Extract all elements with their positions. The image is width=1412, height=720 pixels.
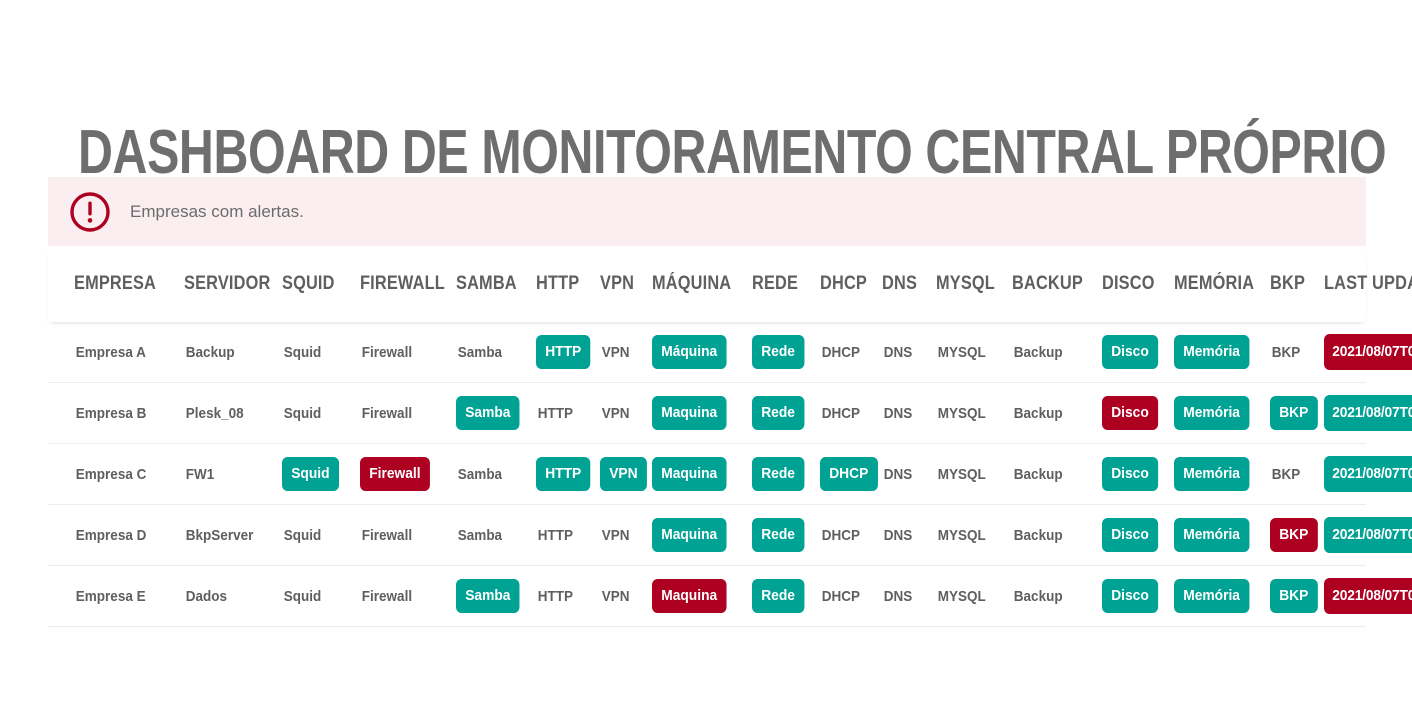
status-badge[interactable]: DHCP (820, 457, 878, 491)
table-row[interactable]: Empresa EDadosSquidFirewallSambaHTTPVPNM… (48, 566, 1366, 627)
status-badge[interactable]: Disco (1102, 396, 1158, 430)
column-header[interactable]: DHCP (820, 273, 873, 295)
status-badge[interactable]: Memória (1174, 396, 1249, 430)
table-cell: HTTP (536, 457, 600, 491)
cell-value: HTTP (536, 405, 575, 422)
cell-value: DNS (882, 527, 914, 544)
table-cell: HTTP (536, 335, 600, 369)
table-cell: Rede (752, 396, 820, 430)
table-cell: MYSQL (936, 588, 1012, 605)
table-cell: Firewall (360, 457, 456, 491)
alert-banner: Empresas com alertas. (48, 177, 1366, 246)
table-cell: DHCP (820, 588, 882, 605)
table-cell: Squid (282, 405, 360, 422)
table-cell: BKP (1270, 579, 1324, 613)
table-cell: Disco (1102, 457, 1174, 491)
cell-value: Squid (282, 527, 323, 544)
status-badge[interactable]: Samba (456, 579, 520, 613)
column-header[interactable]: FIREWALL (360, 273, 443, 295)
table-cell: BkpServer (184, 527, 282, 544)
column-header[interactable]: REDE (752, 273, 810, 295)
table-cell: VPN (600, 527, 652, 544)
table-cell: Empresa D (74, 527, 184, 544)
cell-value: DNS (882, 588, 914, 605)
status-badge[interactable]: Memória (1174, 335, 1249, 369)
status-badge[interactable]: Samba (456, 396, 520, 430)
table-cell: Dados (184, 588, 282, 605)
column-header[interactable]: BACKUP (1012, 273, 1089, 295)
table-cell: Backup (1012, 405, 1102, 422)
table-cell: BKP (1270, 466, 1324, 483)
status-badge[interactable]: Disco (1102, 518, 1158, 552)
status-badge[interactable]: Squid (282, 457, 339, 491)
table-cell: Memória (1174, 457, 1270, 491)
cell-value: DNS (882, 405, 914, 422)
status-badge[interactable]: Maquina (652, 579, 726, 613)
cell-value: MYSQL (936, 405, 988, 422)
cell-value: Empresa A (74, 344, 148, 361)
status-badge[interactable]: Disco (1102, 335, 1158, 369)
table-cell: BKP (1270, 344, 1324, 361)
cell-value: Samba (456, 466, 504, 483)
table-cell: MYSQL (936, 466, 1012, 483)
status-badge[interactable]: 2021/08/07T02:20:02 (1324, 578, 1412, 614)
table-cell: HTTP (536, 527, 600, 544)
table-cell: DHCP (820, 457, 882, 491)
cell-value: Firewall (360, 527, 414, 544)
table-cell: Empresa A (74, 344, 184, 361)
status-badge[interactable]: Disco (1102, 579, 1158, 613)
cell-value: VPN (600, 344, 631, 361)
table-cell: Firewall (360, 344, 456, 361)
table-cell: Memória (1174, 579, 1270, 613)
table-cell: DNS (882, 405, 936, 422)
cell-value: Backup (1012, 588, 1064, 605)
cell-value: Backup (1012, 466, 1064, 483)
cell-value: DHCP (820, 344, 862, 361)
table-cell: VPN (600, 344, 652, 361)
table-cell: Maquina (652, 518, 752, 552)
table-cell: Samba (456, 579, 536, 613)
table-header-row: EMPRESASERVIDORSQUIDFIREWALLSAMBAHTTPVPN… (48, 246, 1366, 322)
table-cell: Rede (752, 457, 820, 491)
table-cell: Rede (752, 335, 820, 369)
cell-value: Backup (1012, 405, 1064, 422)
cell-value: HTTP (536, 588, 575, 605)
table-cell: Rede (752, 518, 820, 552)
cell-value: DHCP (820, 588, 862, 605)
column-header[interactable]: MEMÓRIA (1174, 273, 1257, 295)
table-cell: Memória (1174, 396, 1270, 430)
cell-value: MYSQL (936, 344, 988, 361)
cell-value: Empresa E (74, 588, 147, 605)
status-badge[interactable]: Rede (752, 396, 804, 430)
column-header[interactable]: HTTP (536, 273, 591, 295)
cell-value: HTTP (536, 527, 575, 544)
column-header[interactable]: EMPRESA (74, 273, 169, 295)
table-cell: 2021/08/07T02:20:02 (1324, 334, 1412, 370)
cell-value: VPN (600, 588, 631, 605)
status-badge[interactable]: 2021/08/07T02:20:02 (1324, 517, 1412, 553)
table-cell: Firewall (360, 588, 456, 605)
column-header[interactable]: MÁQUINA (652, 273, 738, 295)
cell-value: BKP (1270, 466, 1302, 483)
cell-value: Firewall (360, 405, 414, 422)
status-badge[interactable]: Memória (1174, 579, 1249, 613)
cell-value: DHCP (820, 527, 862, 544)
table-cell: DHCP (820, 527, 882, 544)
table-cell: Samba (456, 527, 536, 544)
table-cell: DNS (882, 588, 936, 605)
table-cell: Memória (1174, 335, 1270, 369)
table-row[interactable]: Empresa ABackupSquidFirewallSambaHTTPVPN… (48, 322, 1366, 383)
table-cell: MYSQL (936, 405, 1012, 422)
status-badge[interactable]: Rede (752, 335, 804, 369)
table-row[interactable]: Empresa CFW1SquidFirewallSambaHTTPVPNMaq… (48, 444, 1366, 505)
cell-value: Empresa C (74, 466, 148, 483)
status-badge[interactable]: VPN (600, 457, 647, 491)
status-badge[interactable]: HTTP (536, 335, 590, 369)
table-cell: Squid (282, 527, 360, 544)
cell-value: Squid (282, 344, 323, 361)
table-cell: Backup (184, 344, 282, 361)
alert-circle-icon (69, 191, 111, 233)
table-cell: Backup (1012, 527, 1102, 544)
status-badge[interactable]: Rede (752, 457, 804, 491)
status-badge[interactable]: HTTP (536, 457, 590, 491)
table-cell: MYSQL (936, 527, 1012, 544)
cell-value: Firewall (360, 344, 414, 361)
table-cell: BKP (1270, 518, 1324, 552)
cell-value: BKP (1270, 344, 1302, 361)
status-badge[interactable]: BKP (1270, 396, 1318, 430)
table-cell: HTTP (536, 405, 600, 422)
column-header[interactable]: MYSQL (936, 273, 1001, 295)
table-cell: Maquina (652, 396, 752, 430)
table-cell: Squid (282, 344, 360, 361)
cell-value: Samba (456, 527, 504, 544)
cell-value: Backup (1012, 527, 1064, 544)
status-badge[interactable]: Maquina (652, 457, 726, 491)
cell-value: BkpServer (184, 527, 255, 544)
cell-value: Empresa B (74, 405, 148, 422)
table-cell: Backup (1012, 588, 1102, 605)
table-cell: MYSQL (936, 344, 1012, 361)
table-cell: Rede (752, 579, 820, 613)
cell-value: Samba (456, 344, 504, 361)
table-cell: Firewall (360, 527, 456, 544)
table-cell: Firewall (360, 405, 456, 422)
table-cell: Maquina (652, 457, 752, 491)
cell-value: DHCP (820, 405, 862, 422)
column-header[interactable]: SQUID (282, 273, 349, 295)
cell-value: Firewall (360, 588, 414, 605)
column-header[interactable]: SAMBA (456, 273, 525, 295)
cell-value: Squid (282, 588, 323, 605)
status-badge[interactable]: Memória (1174, 518, 1249, 552)
table-cell: Disco (1102, 518, 1174, 552)
cell-value: Squid (282, 405, 323, 422)
table-cell: Máquina (652, 335, 752, 369)
column-header[interactable]: BKP (1270, 273, 1316, 295)
cell-value: Empresa D (74, 527, 148, 544)
cell-value: VPN (600, 405, 631, 422)
column-header[interactable]: DNS (882, 273, 928, 295)
cell-value: MYSQL (936, 466, 988, 483)
status-badge[interactable]: BKP (1270, 518, 1318, 552)
cell-value: Backup (1012, 344, 1064, 361)
status-badge[interactable]: Maquina (652, 518, 726, 552)
monitoring-table: EMPRESASERVIDORSQUIDFIREWALLSAMBAHTTPVPN… (48, 246, 1366, 627)
table-cell: Disco (1102, 579, 1174, 613)
table-row[interactable]: Empresa BPlesk_08SquidFirewallSambaHTTPV… (48, 383, 1366, 444)
column-header[interactable]: LAST UPDATE (1324, 273, 1412, 295)
table-cell: VPN (600, 588, 652, 605)
table-cell: 2021/08/07T02:20:02 (1324, 395, 1412, 431)
cell-value: FW1 (184, 466, 216, 483)
table-cell: FW1 (184, 466, 282, 483)
table-cell: Disco (1102, 335, 1174, 369)
table-cell: Empresa C (74, 466, 184, 483)
status-badge[interactable]: 2021/08/07T02:20:02 (1324, 334, 1412, 370)
table-cell: DNS (882, 466, 936, 483)
table-cell: 2021/08/07T02:20:02 (1324, 517, 1412, 553)
cell-value: VPN (600, 527, 631, 544)
status-badge[interactable]: 2021/08/07T02:20:02 (1324, 395, 1412, 431)
table-cell: Disco (1102, 396, 1174, 430)
cell-value: MYSQL (936, 527, 988, 544)
table-cell: DHCP (820, 344, 882, 361)
table-cell: DHCP (820, 405, 882, 422)
alert-message: Empresas com alertas. (130, 202, 304, 222)
status-badge[interactable]: Disco (1102, 457, 1158, 491)
column-header[interactable]: DISCO (1102, 273, 1164, 295)
column-header[interactable]: SERVIDOR (184, 273, 268, 295)
cell-value: DNS (882, 466, 914, 483)
status-badge[interactable]: Memória (1174, 457, 1249, 491)
status-badge[interactable]: Firewall (360, 457, 430, 491)
status-badge[interactable]: 2021/08/07T02:20:02 (1324, 456, 1412, 492)
table-cell: Squid (282, 457, 360, 491)
table-body: Empresa ABackupSquidFirewallSambaHTTPVPN… (48, 322, 1366, 627)
table-cell: DNS (882, 527, 936, 544)
table-row[interactable]: Empresa DBkpServerSquidFirewallSambaHTTP… (48, 505, 1366, 566)
status-badge[interactable]: Máquina (652, 335, 726, 369)
column-header[interactable]: VPN (600, 273, 645, 295)
cell-value: Plesk_08 (184, 405, 245, 422)
cell-value: Dados (184, 588, 229, 605)
status-badge[interactable]: Rede (752, 579, 804, 613)
status-badge[interactable]: BKP (1270, 579, 1318, 613)
table-cell: 2021/08/07T02:20:02 (1324, 456, 1412, 492)
table-cell: Memória (1174, 518, 1270, 552)
table-cell: Backup (1012, 466, 1102, 483)
table-cell: BKP (1270, 396, 1324, 430)
table-cell: Samba (456, 466, 536, 483)
table-cell: VPN (600, 457, 652, 491)
table-cell: Plesk_08 (184, 405, 282, 422)
table-cell: Samba (456, 344, 536, 361)
table-cell: Empresa B (74, 405, 184, 422)
cell-value: Backup (184, 344, 236, 361)
table-cell: VPN (600, 405, 652, 422)
cell-value: MYSQL (936, 588, 988, 605)
table-cell: Backup (1012, 344, 1102, 361)
table-cell: Samba (456, 396, 536, 430)
status-badge[interactable]: Maquina (652, 396, 726, 430)
cell-value: DNS (882, 344, 914, 361)
status-badge[interactable]: Rede (752, 518, 804, 552)
table-cell: Maquina (652, 579, 752, 613)
table-cell: DNS (882, 344, 936, 361)
table-cell: HTTP (536, 588, 600, 605)
table-cell: Empresa E (74, 588, 184, 605)
table-cell: Squid (282, 588, 360, 605)
table-cell: 2021/08/07T02:20:02 (1324, 578, 1412, 614)
